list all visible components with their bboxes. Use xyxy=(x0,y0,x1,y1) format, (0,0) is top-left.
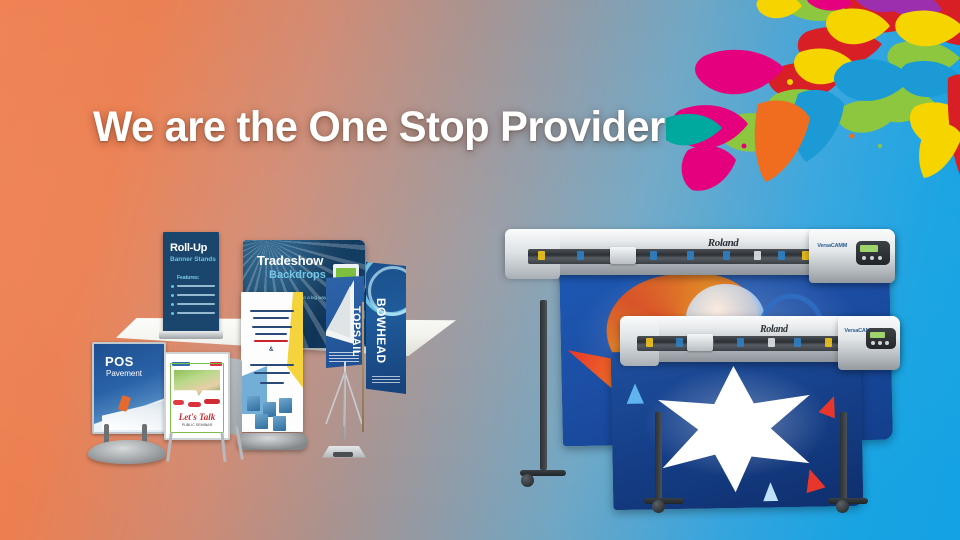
printer-upper-control-panel[interactable] xyxy=(856,241,890,265)
printer-upper-brand-logo: Roland xyxy=(708,237,739,249)
printer-lower-control-panel[interactable] xyxy=(866,328,896,349)
printer-lower-stand-leg xyxy=(655,412,662,500)
rollup-banner-subtitle: Banner Stands xyxy=(170,257,216,264)
paint-splash-graphic xyxy=(666,0,960,206)
tradeshow-backdrop-subtitle: Backdrops xyxy=(269,270,326,282)
printer-lower: Roland VersaCAMM xyxy=(620,316,900,372)
printer-upper: Roland VersaCAMM xyxy=(505,229,895,291)
flag-bowhead-label: BOWHEAD xyxy=(374,298,388,363)
rollup-banner-stand: Roll-Up Banner Stands Features: xyxy=(163,232,219,332)
pavement-sign-base xyxy=(88,440,166,464)
tradeshow-backdrop-title: Tradeshow xyxy=(257,254,323,268)
printer-upper-stand-leg xyxy=(540,300,547,470)
rollup-feature-item xyxy=(171,303,215,307)
printer-lower-caster xyxy=(652,500,665,513)
award-banner-ampersand: & xyxy=(269,347,273,353)
rollup-feature-item xyxy=(171,285,215,289)
aframe-poster-stand: Let's Talk PUBLIC SEMINAR xyxy=(160,352,252,464)
rollup-feature-item xyxy=(171,294,215,298)
flag-banner-topsail: TOPSAIL xyxy=(320,276,366,466)
printer-lower-output-media xyxy=(611,348,864,510)
printer-upper-carriage-rail xyxy=(528,249,832,264)
printer-lower-carriage-rail xyxy=(637,336,855,351)
pavement-sign-subtitle: Pavement xyxy=(106,370,142,378)
pavement-sign: POS Pavement xyxy=(86,336,168,464)
printer-upper-caster xyxy=(521,474,534,487)
rollup-feature-item xyxy=(171,312,215,316)
page-title: We are the One Stop Provider xyxy=(93,103,665,152)
printer-upper-print-head xyxy=(610,247,636,264)
printer-upper-model-label: VersaCAMM xyxy=(817,243,847,249)
flag-tripod-legs xyxy=(322,372,366,438)
rollup-banner-features-label: Features: xyxy=(177,276,200,281)
rollup-banner-title: Roll-Up xyxy=(170,243,207,255)
printer-lower-stand-leg xyxy=(840,412,847,500)
printer-lower-caster xyxy=(836,500,849,513)
pavement-sign-title: POS xyxy=(105,355,134,369)
flag-banner-bowhead: BOWHEAD xyxy=(366,262,410,442)
rollup-banner-base xyxy=(159,331,223,339)
flag-topsail-label: TOPSAIL xyxy=(350,306,362,357)
printer-lower-print-head xyxy=(687,334,713,351)
aframe-poster-title: Let's Talk xyxy=(166,412,228,422)
printer-lower-brand-logo: Roland xyxy=(760,324,788,335)
aframe-poster-subtitle: PUBLIC SEMINAR xyxy=(166,423,228,427)
slide-canvas: We are the One Stop Provider Tradeshow B… xyxy=(0,0,960,540)
